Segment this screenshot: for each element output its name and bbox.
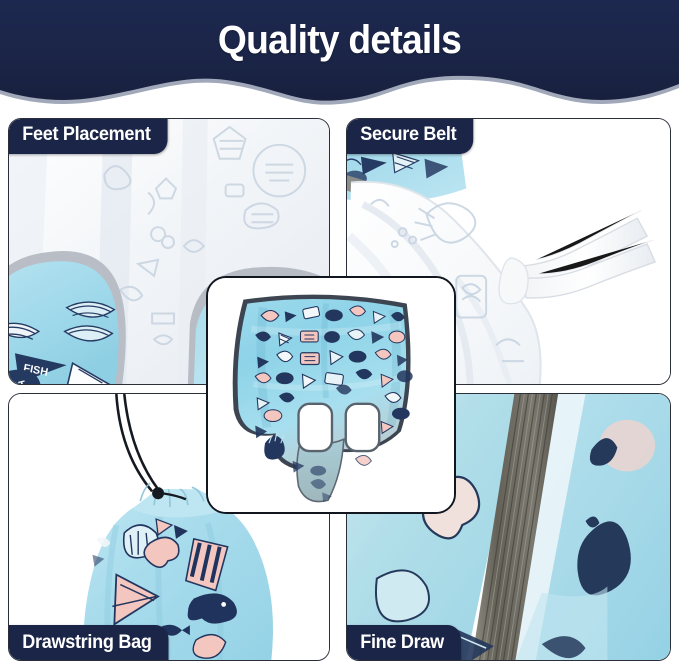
- panel-label-secure-belt: Secure Belt: [346, 118, 473, 154]
- product-hero-illustration: [208, 278, 454, 512]
- header-banner: Quality details: [0, 0, 679, 112]
- panel-label-feet-placement: Feet Placement: [8, 118, 168, 154]
- panel-label-drawstring-bag: Drawstring Bag: [8, 625, 169, 661]
- center-inset-frame[interactable]: [206, 276, 456, 514]
- page-title: Quality details: [24, 16, 655, 64]
- panel-label-fine-draw: Fine Draw: [346, 625, 461, 661]
- quality-details-infographic: Quality details: [0, 0, 679, 668]
